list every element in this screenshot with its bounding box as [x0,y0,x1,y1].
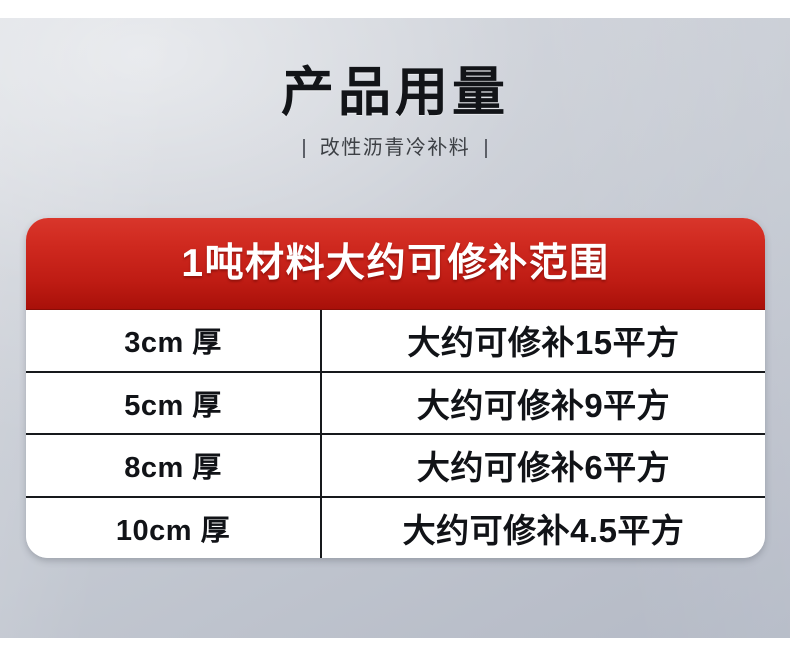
cell-thickness: 3cm 厚 [26,310,322,371]
usage-card: 1吨材料大约可修补范围 3cm 厚 大约可修补15平方 5cm 厚 大约可修补9… [26,218,765,558]
table-row: 8cm 厚 大约可修补6平方 [26,435,765,498]
cell-coverage: 大约可修补4.5平方 [322,498,765,559]
divider-bar-right-icon [485,139,487,158]
subtitle-row: 改性沥青冷补料 [0,136,790,160]
cell-coverage: 大约可修补6平方 [322,435,765,496]
cell-coverage: 大约可修补9平方 [322,373,765,434]
card-header-banner: 1吨材料大约可修补范围 [26,218,765,310]
divider-bar-left-icon [303,139,305,158]
table-row: 5cm 厚 大约可修补9平方 [26,373,765,436]
usage-table: 3cm 厚 大约可修补15平方 5cm 厚 大约可修补9平方 8cm 厚 大约可… [26,310,765,558]
table-row: 3cm 厚 大约可修补15平方 [26,310,765,373]
poster-canvas: 产品用量 改性沥青冷补料 1吨材料大约可修补范围 3cm 厚 大约可修补15平方… [0,0,790,651]
heading-block: 产品用量 改性沥青冷补料 [0,62,790,160]
cell-thickness: 8cm 厚 [26,435,322,496]
cell-thickness: 5cm 厚 [26,373,322,434]
table-row: 10cm 厚 大约可修补4.5平方 [26,498,765,559]
page-title: 产品用量 [0,62,790,124]
cell-coverage: 大约可修补15平方 [322,310,765,371]
cell-thickness: 10cm 厚 [26,498,322,559]
card-header-title: 1吨材料大约可修补范围 [181,241,609,287]
page-subtitle: 改性沥青冷补料 [320,136,471,160]
